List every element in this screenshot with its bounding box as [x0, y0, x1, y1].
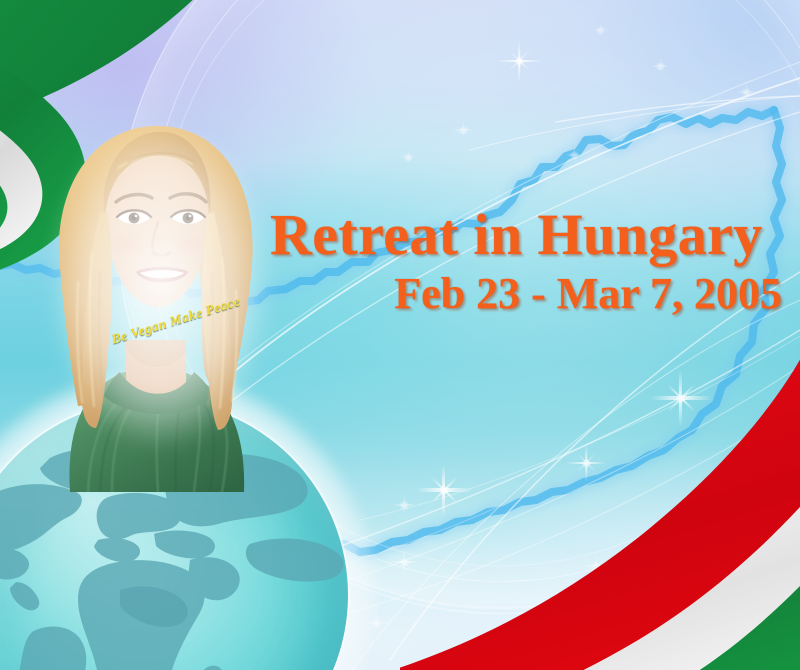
- headline-block: Retreat in Hungary Feb 23 - Mar 7, 2005: [270, 205, 790, 318]
- portrait-photo: [8, 72, 298, 492]
- portrait-glow: [30, 132, 292, 532]
- page-title: Retreat in Hungary: [270, 205, 790, 265]
- poster-canvas: Be Vegan Make Peace Retreat in Hungary F…: [0, 0, 800, 670]
- event-dates: Feb 23 - Mar 7, 2005: [270, 271, 782, 317]
